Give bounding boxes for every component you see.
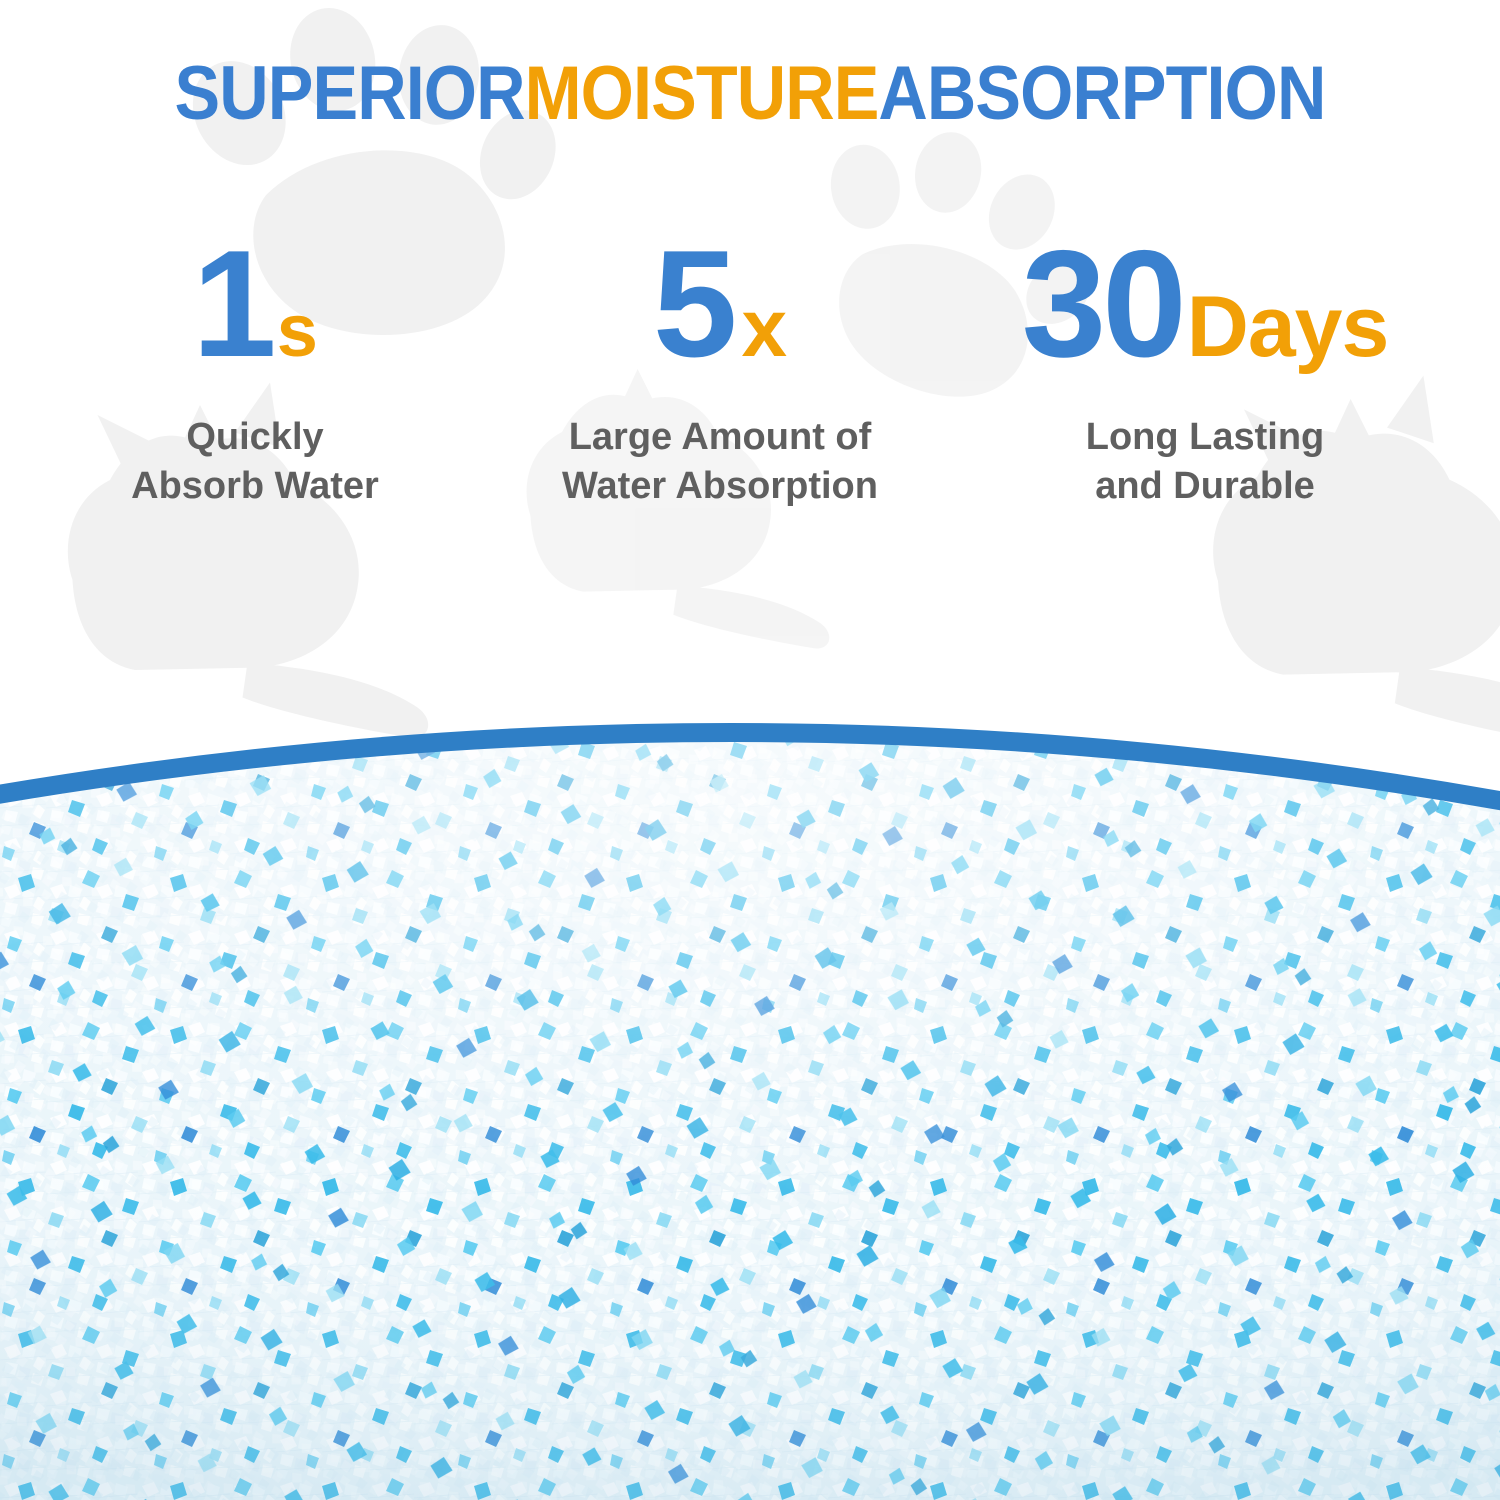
stat-unit: x [741, 288, 787, 370]
stat-number: 30 [1022, 228, 1183, 380]
product-feature-graphic: SUPERIORMOISTUREABSORPTION 1 s Quickly A… [0, 0, 1500, 1500]
feature-stats-row: 1 s Quickly Absorb Water 5 x Large Amoun… [0, 228, 1500, 528]
stat-number: 5 [653, 228, 734, 380]
stat-label: Long Lasting and Durable [1086, 413, 1325, 510]
stat-label: Quickly Absorb Water [131, 413, 379, 510]
stat-figure: 5 x [653, 228, 787, 403]
crystal-litter-granules [0, 560, 1500, 1500]
litter-bowl-photo [0, 560, 1500, 1500]
headline-part-absorption: ABSORPTION [878, 51, 1325, 136]
headline-part-moisture: MOISTURE [525, 51, 879, 136]
stat-unit: Days [1187, 284, 1389, 370]
litter-bowl-illustration [0, 560, 1500, 1500]
stat-figure: 30 Days [1022, 228, 1389, 403]
headline-part-superior: SUPERIOR [175, 51, 525, 136]
stat-unit: s [277, 294, 318, 368]
stat-block-absorb-speed: 1 s Quickly Absorb Water [15, 228, 495, 528]
stat-number: 1 [192, 228, 273, 380]
stat-block-absorb-capacity: 5 x Large Amount of Water Absorption [495, 228, 945, 528]
stat-label: Large Amount of Water Absorption [562, 413, 878, 510]
stat-figure: 1 s [192, 228, 318, 403]
stat-block-duration: 30 Days Long Lasting and Durable [945, 228, 1465, 528]
page-title: SUPERIORMOISTUREABSORPTION [75, 56, 1425, 132]
